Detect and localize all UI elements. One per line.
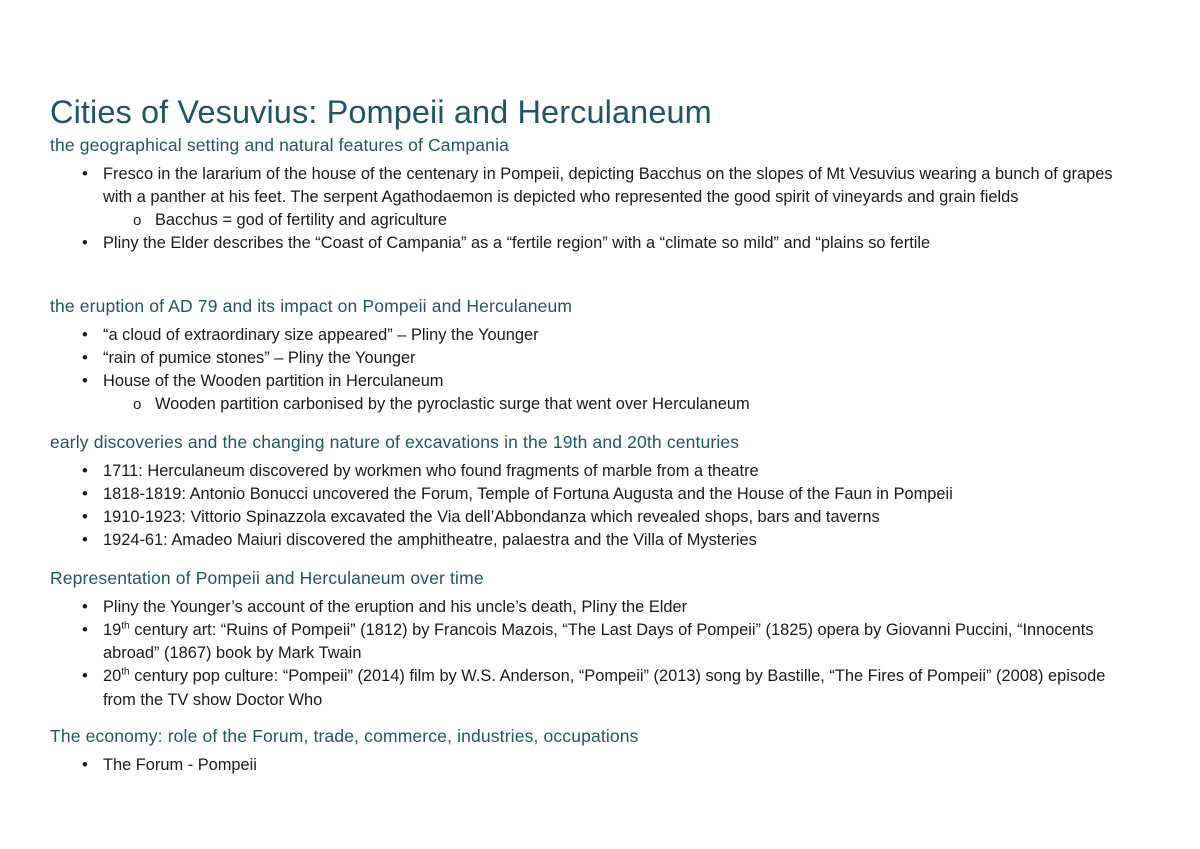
section-economy: The economy: role of the Forum, trade, c… [0,725,1200,777]
bullet-icon: • [82,370,94,393]
list-item-text: “rain of pumice stones” – Pliny the Youn… [103,347,1200,370]
bullet-list: • 1711: Herculaneum discovered by workme… [0,460,1200,553]
bullet-icon: • [82,619,94,642]
list-item: • 20th century pop culture: “Pompeii” (2… [0,665,1200,711]
list-item: • Pliny the Elder describes the “Coast o… [0,232,1200,255]
list-item: • 19th century art: “Ruins of Pompeii” (… [0,619,1200,665]
list-item: • 1818-1819: Antonio Bonucci uncovered t… [0,483,1200,506]
bullet-icon: • [82,665,94,688]
list-item: • 1910-1923: Vittorio Spinazzola excavat… [0,506,1200,529]
list-item: • House of the Wooden partition in Hercu… [0,370,1200,416]
list-item-text: 1910-1923: Vittorio Spinazzola excavated… [103,506,1200,529]
list-item-text: Pliny the Younger’s account of the erupt… [103,596,1200,619]
bullet-icon: • [82,483,94,506]
list-item: • Pliny the Younger’s account of the eru… [0,596,1200,619]
list-item-text: “a cloud of extraordinary size appeared”… [103,324,1200,347]
section-geographical-setting: the geographical setting and natural fea… [0,134,1200,256]
section-heading: The economy: role of the Forum, trade, c… [0,725,1200,748]
sub-bullet-list: o Bacchus = god of fertility and agricul… [103,209,1200,232]
list-item-text: Pliny the Elder describes the “Coast of … [103,232,1200,255]
bullet-list: • The Forum - Pompeii [0,754,1200,777]
list-item: • 1924-61: Amadeo Maiuri discovered the … [0,529,1200,552]
bullet-icon: • [82,460,94,483]
sub-list-item: o Wooden partition carbonised by the pyr… [103,393,1200,416]
section-early-discoveries: early discoveries and the changing natur… [0,431,1200,553]
sub-list-item-text: Bacchus = god of fertility and agricultu… [155,211,447,229]
bullet-icon: • [82,163,94,186]
century-body: century pop culture: “Pompeii” (2014) fi… [103,667,1105,708]
list-item-text: 1924-61: Amadeo Maiuri discovered the am… [103,529,1200,552]
list-item: • “a cloud of extraordinary size appeare… [0,324,1200,347]
list-item-text: 1711: Herculaneum discovered by workmen … [103,460,1200,483]
century-prefix: 19th [103,621,130,639]
list-item-text-19th: 19th century art: “Ruins of Pompeii” (18… [103,619,1200,665]
bullet-icon: • [82,596,94,619]
bullet-icon: • [82,347,94,370]
section-heading: the geographical setting and natural fea… [0,134,1200,157]
section-heading: the eruption of AD 79 and its impact on … [0,295,1200,318]
section-heading: Representation of Pompeii and Herculaneu… [0,567,1200,590]
bullet-icon: • [82,529,94,552]
sub-bullet-list: o Wooden partition carbonised by the pyr… [103,393,1200,416]
list-item: • “rain of pumice stones” – Pliny the Yo… [0,347,1200,370]
century-prefix: 20th [103,667,130,685]
century-ordinal-suffix: th [121,620,129,631]
section-eruption-ad79: the eruption of AD 79 and its impact on … [0,295,1200,417]
sub-bullet-icon: o [133,209,141,233]
bullet-icon: • [82,324,94,347]
section-representation-over-time: Representation of Pompeii and Herculaneu… [0,567,1200,712]
bullet-icon: • [82,506,94,529]
century-number: 20 [103,667,121,685]
list-item: • The Forum - Pompeii [0,754,1200,777]
sub-bullet-icon: o [133,393,141,417]
sub-list-item: o Bacchus = god of fertility and agricul… [103,209,1200,232]
page-title: Cities of Vesuvius: Pompeii and Herculan… [50,94,712,131]
century-number: 19 [103,621,121,639]
section-heading: early discoveries and the changing natur… [0,431,1200,454]
bullet-icon: • [82,232,94,255]
list-item-text: Fresco in the lararium of the house of t… [103,163,1200,209]
list-item: • Fresco in the lararium of the house of… [0,163,1200,233]
century-ordinal-suffix: th [121,667,129,678]
bullet-list: • Fresco in the lararium of the house of… [0,163,1200,256]
bullet-icon: • [82,754,94,777]
list-item-text: House of the Wooden partition in Hercula… [103,370,1200,393]
list-item-text-20th: 20th century pop culture: “Pompeii” (201… [103,665,1200,711]
century-body: century art: “Ruins of Pompeii” (1812) b… [103,621,1094,662]
document-page: Cities of Vesuvius: Pompeii and Herculan… [0,0,1200,849]
sub-list-item-text: Wooden partition carbonised by the pyroc… [155,395,750,413]
list-item-text: The Forum - Pompeii [103,754,1200,777]
list-item: • 1711: Herculaneum discovered by workme… [0,460,1200,483]
bullet-list: • “a cloud of extraordinary size appeare… [0,324,1200,417]
bullet-list: • Pliny the Younger’s account of the eru… [0,596,1200,712]
list-item-text: 1818-1819: Antonio Bonucci uncovered the… [103,483,1200,506]
